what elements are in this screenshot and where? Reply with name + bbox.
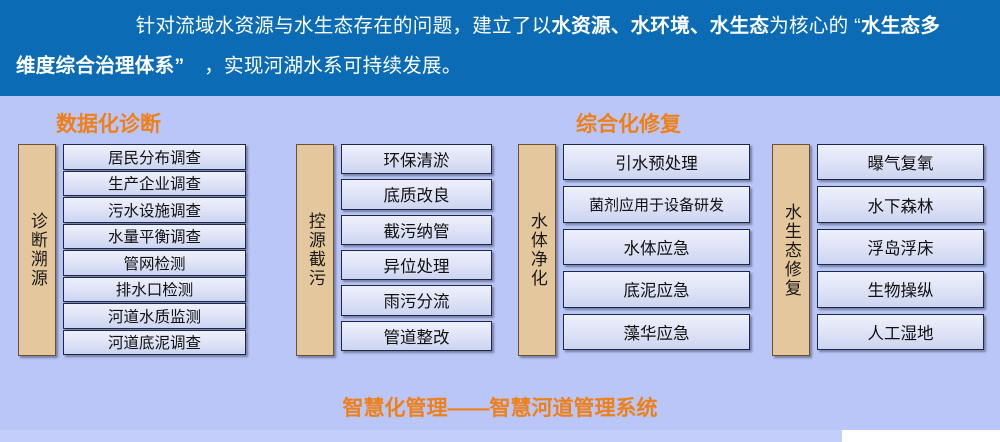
column-label-source-control: 控源截污 (296, 144, 334, 356)
column-items-water-purification: 引水预处理 菌剂应用于设备研发 水体应急 底泥应急 藻华应急 (563, 144, 750, 356)
banner-seg-2: 水资源、水环境、水生态 (551, 15, 769, 37)
column-label-text: 控源截污 (306, 212, 324, 288)
column-items-diagnosis-tracing: 居民分布调查 生产企业调查 污水设施调查 水量平衡调查 管网检测 排水口检测 河… (63, 144, 246, 356)
item-box[interactable]: 人工湿地 (817, 314, 984, 350)
banner-seg-4: 水生态多 (861, 15, 940, 37)
item-box[interactable]: 水下森林 (817, 186, 984, 222)
banner-text: 针对流域水资源与水生态存在的问题，建立了以水资源、水环境、水生态为核心的 “水生… (16, 6, 984, 86)
item-box[interactable]: 管网检测 (63, 250, 246, 276)
item-box[interactable]: 底泥应急 (563, 271, 750, 307)
column-water-purification: 水体净化 引水预处理 菌剂应用于设备研发 水体应急 底泥应急 藻华应急 (518, 144, 750, 356)
item-box[interactable]: 河道水质监测 (63, 303, 246, 329)
item-box[interactable]: 浮岛浮床 (817, 229, 984, 265)
item-box[interactable]: 排水口检测 (63, 277, 246, 303)
column-source-control: 控源截污 环保清淤 底质改良 截污纳管 异位处理 雨污分流 管道整改 (296, 144, 492, 356)
column-diagnosis-tracing: 诊断溯源 居民分布调查 生产企业调查 污水设施调查 水量平衡调查 管网检测 排水… (18, 144, 246, 356)
banner-seg-3: 为核心的 “ (769, 15, 861, 37)
item-box[interactable]: 水量平衡调查 (63, 224, 246, 250)
column-label-diagnosis-tracing: 诊断溯源 (18, 144, 56, 356)
item-box[interactable]: 菌剂应用于设备研发 (563, 186, 750, 222)
item-box[interactable]: 截污纳管 (341, 215, 492, 245)
banner: 针对流域水资源与水生态存在的问题，建立了以水资源、水环境、水生态为核心的 “水生… (0, 0, 1000, 96)
item-box[interactable]: 管道整改 (341, 321, 492, 351)
item-box[interactable]: 引水预处理 (563, 144, 750, 180)
bottom-band-right (842, 430, 1000, 442)
item-box[interactable]: 生产企业调查 (63, 171, 246, 197)
item-box[interactable]: 曝气复氧 (817, 144, 984, 180)
column-label-water-purification: 水体净化 (518, 144, 556, 356)
banner-seg-5: 维度综合治理体系” (16, 55, 184, 77)
column-label-text: 水体净化 (528, 212, 546, 288)
slide-canvas: 针对流域水资源与水生态存在的问题，建立了以水资源、水环境、水生态为核心的 “水生… (0, 0, 1000, 442)
section-heading-diagnosis: 数据化诊断 (56, 108, 161, 138)
item-box[interactable]: 污水设施调查 (63, 197, 246, 223)
item-box[interactable]: 居民分布调查 (63, 144, 246, 170)
section-heading-restoration: 综合化修复 (576, 108, 681, 138)
item-box[interactable]: 生物操纵 (817, 271, 984, 307)
column-label-text: 水生态修复 (782, 203, 800, 298)
banner-seg-6: ，实现河湖水系可持续发展。 (184, 55, 461, 77)
item-box[interactable]: 异位处理 (341, 250, 492, 280)
column-label-aquatic-ecology-restoration: 水生态修复 (772, 144, 810, 356)
banner-seg-1: 针对流域水资源与水生态存在的问题，建立了以 (96, 15, 551, 37)
column-aquatic-ecology-restoration: 水生态修复 曝气复氧 水下森林 浮岛浮床 生物操纵 人工湿地 (772, 144, 984, 356)
item-box[interactable]: 底质改良 (341, 179, 492, 209)
item-box[interactable]: 水体应急 (563, 229, 750, 265)
banner-line-2: 维度综合治理体系” ，实现河湖水系可持续发展。 (16, 46, 984, 86)
bottom-caption: 智慧化管理——智慧河道管理系统 (0, 392, 1000, 422)
banner-line-1: 针对流域水资源与水生态存在的问题，建立了以水资源、水环境、水生态为核心的 “水生… (16, 6, 984, 46)
item-box[interactable]: 河道底泥调查 (63, 330, 246, 356)
item-box[interactable]: 藻华应急 (563, 314, 750, 350)
item-box[interactable]: 雨污分流 (341, 285, 492, 315)
column-items-aquatic-ecology-restoration: 曝气复氧 水下森林 浮岛浮床 生物操纵 人工湿地 (817, 144, 984, 356)
column-items-source-control: 环保清淤 底质改良 截污纳管 异位处理 雨污分流 管道整改 (341, 144, 492, 356)
column-label-text: 诊断溯源 (28, 212, 46, 288)
item-box[interactable]: 环保清淤 (341, 144, 492, 174)
